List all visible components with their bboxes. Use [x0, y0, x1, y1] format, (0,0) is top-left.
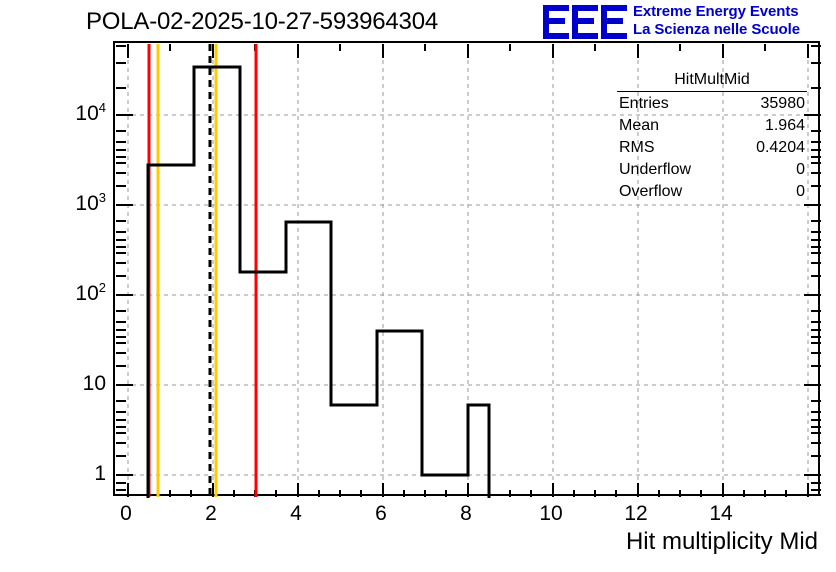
- x-axis-title: Hit multiplicity Mid: [626, 528, 818, 556]
- y-tick-label-10: 10: [46, 372, 106, 396]
- stats-row-entries: Entries 35980: [613, 93, 811, 115]
- stats-label-overflow: Overflow: [619, 181, 682, 203]
- y-tick-label-1000: 103: [46, 190, 106, 216]
- stats-label-underflow: Underflow: [619, 159, 691, 181]
- x-tick-label-10: 10: [531, 502, 571, 526]
- page-title: POLA-02-2025-10-27-593964304: [86, 8, 438, 36]
- eee-logo-mark-icon: [543, 5, 629, 39]
- x-tick-label-0: 0: [106, 502, 146, 526]
- stats-row-underflow: Underflow 0: [613, 159, 811, 181]
- x-tick-label-12: 12: [616, 502, 656, 526]
- stats-label-entries: Entries: [619, 93, 669, 115]
- x-tick-label-14: 14: [701, 502, 741, 526]
- stats-value-entries: 35980: [761, 93, 806, 115]
- plot-frame: HitMultMid Entries 35980 Mean 1.964 RMS …: [113, 41, 820, 496]
- x-tick-label-6: 6: [361, 502, 401, 526]
- y-tick-label-1: 1: [46, 462, 106, 486]
- root-canvas: POLA-02-2025-10-27-593964304 Extreme Ene…: [0, 0, 836, 572]
- x-tick-label-8: 8: [446, 502, 486, 526]
- eee-logo-line2: La Scienza nelle Scuole: [633, 21, 833, 39]
- x-axis-ticks-top: [128, 44, 808, 58]
- stats-row-overflow: Overflow 0: [613, 181, 811, 203]
- stats-value-mean: 1.964: [765, 115, 805, 137]
- histogram-outline: [148, 67, 489, 498]
- stats-value-rms: 0.4204: [756, 137, 805, 159]
- eee-logo-text: Extreme Energy Events La Scienza nelle S…: [633, 3, 833, 39]
- stats-row-rms: RMS 0.4204: [613, 137, 811, 159]
- x-axis-ticks: [128, 483, 808, 497]
- stats-row-mean: Mean 1.964: [613, 115, 811, 137]
- x-tick-label-2: 2: [191, 502, 231, 526]
- x-tick-label-4: 4: [276, 502, 316, 526]
- y-tick-label-100: 102: [46, 280, 106, 306]
- stats-value-overflow: 0: [796, 181, 805, 203]
- stats-title: HitMultMid: [617, 70, 807, 92]
- stats-label-mean: Mean: [619, 115, 659, 137]
- stats-label-rms: RMS: [619, 137, 655, 159]
- y-tick-label-10000: 104: [46, 100, 106, 126]
- eee-logo-line1: Extreme Energy Events: [633, 3, 833, 21]
- stats-value-underflow: 0: [796, 159, 805, 181]
- eee-logo: Extreme Energy Events La Scienza nelle S…: [543, 3, 833, 41]
- y-axis-ticks: [116, 46, 133, 495]
- stats-box: HitMultMid Entries 35980 Mean 1.964 RMS …: [613, 70, 811, 203]
